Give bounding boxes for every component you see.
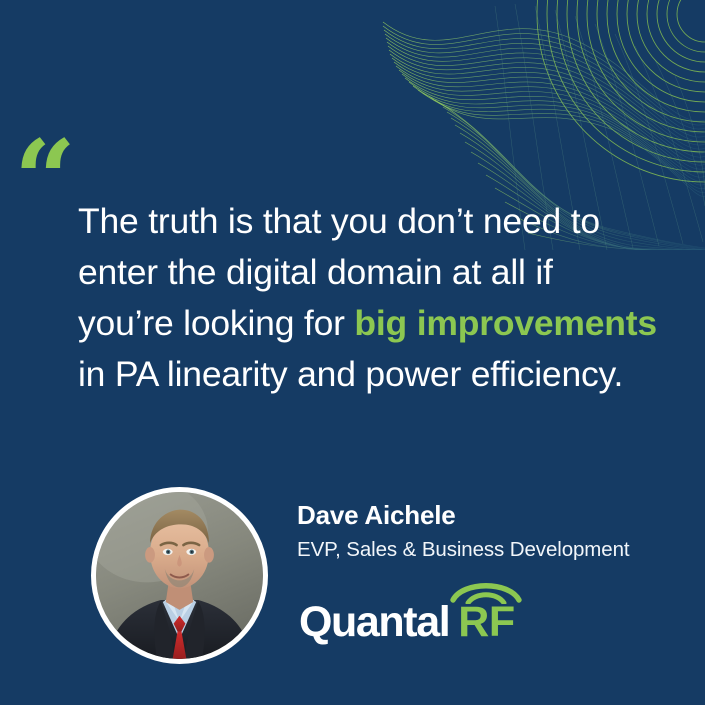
opening-quote-mark: “ [14,126,74,234]
person-name: Dave Aichele [297,500,629,531]
wifi-arcs-icon [449,578,523,604]
logo-wordmark: Quantal [299,601,449,644]
quote-segment-highlighted: big improvements [354,303,657,343]
headshot-photo [96,492,263,659]
quote-segment: in PA linearity and power efficiency. [78,354,623,394]
attribution: Dave Aichele EVP, Sales & Business Devel… [297,500,629,563]
quote-line: enter the digital domain at all if [78,247,678,298]
quote-segment: The truth is that you don’t need to [78,201,600,241]
brand-logo: Quantal RF [299,601,515,644]
quote-line: you’re looking for big improvements [78,298,678,349]
quote-card: “ The truth is that you don’t need to en… [0,0,705,705]
person-title: EVP, Sales & Business Development [297,538,629,563]
quote-line: in PA linearity and power efficiency. [78,349,678,400]
logo-suffix-wrap: RF [458,601,514,644]
quote-line: The truth is that you don’t need to [78,196,678,247]
quote-segment: enter the digital domain at all if [78,252,553,292]
avatar [91,487,268,664]
quote-text: The truth is that you don’t need to ente… [78,196,678,400]
logo-suffix: RF [458,598,514,646]
quote-segment: you’re looking for [78,303,354,343]
